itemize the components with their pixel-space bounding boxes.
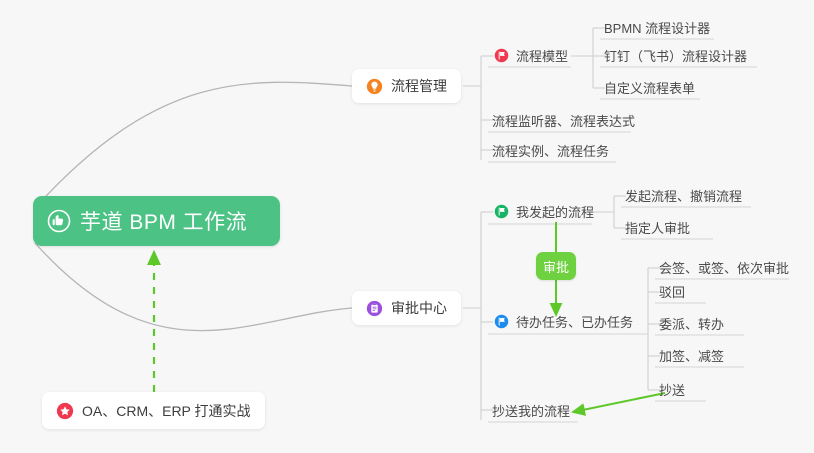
branch-process-management[interactable]: 流程管理 (352, 69, 461, 103)
flag-icon (494, 48, 509, 63)
topic-label: BPMN 流程设计器 (604, 18, 710, 37)
topic-add-remove-sign[interactable]: 加签、减签 (655, 343, 730, 370)
root-node[interactable]: 芋道 BPM 工作流 (33, 196, 280, 246)
branch-label: 审批中心 (391, 298, 447, 318)
star-icon (56, 402, 74, 420)
topic-my-submitted-flow[interactable]: 我发起的流程 (490, 199, 600, 226)
topic-label: 会签、或签、依次审批 (659, 258, 789, 277)
topic-label: 加签、减签 (659, 346, 724, 365)
topic-carbon-copy[interactable]: 抄送 (655, 377, 691, 404)
topic-todo-done-tasks[interactable]: 待办任务、已办任务 (490, 309, 639, 336)
topic-dingtalk-designer[interactable]: 钉钉（飞书）流程设计器 (600, 43, 753, 70)
topic-label: 自定义流程表单 (604, 78, 695, 97)
topic-launch-cancel-flow[interactable]: 发起流程、撤销流程 (621, 183, 748, 210)
edge-root-to-process-management (35, 82, 352, 208)
topic-label: 委派、转办 (659, 314, 724, 333)
annotation-label: 审批 (543, 257, 569, 276)
root-label: 芋道 BPM 工作流 (80, 206, 247, 236)
topic-countersign[interactable]: 会签、或签、依次审批 (655, 255, 795, 282)
topic-label: 待办任务、已办任务 (516, 312, 633, 331)
annotation-approve-pill: 审批 (536, 252, 576, 280)
topic-assignee-approval[interactable]: 指定人审批 (621, 215, 696, 242)
mindmap-canvas: 芋道 BPM 工作流 流程管理 流程模型 BPMN 流程设计器 钉钉（飞书）流程 (0, 0, 814, 453)
topic-reject[interactable]: 驳回 (655, 279, 691, 306)
topic-label: 我发起的流程 (516, 202, 594, 221)
topic-label: 抄送我的流程 (492, 401, 570, 420)
floating-node-label: OA、CRM、ERP 打通实战 (82, 401, 251, 421)
topic-listener-expression[interactable]: 流程监听器、流程表达式 (488, 108, 641, 135)
topic-label: 流程监听器、流程表达式 (492, 111, 635, 130)
clipboard-icon (366, 300, 383, 317)
topic-custom-form[interactable]: 自定义流程表单 (600, 75, 701, 102)
floating-node-integration[interactable]: OA、CRM、ERP 打通实战 (42, 392, 265, 429)
thumbs-up-icon (47, 209, 71, 233)
branch-label: 流程管理 (391, 76, 447, 96)
branch-approval-center[interactable]: 审批中心 (352, 291, 461, 325)
topic-instance-task[interactable]: 流程实例、流程任务 (488, 138, 615, 165)
topic-process-model[interactable]: 流程模型 (490, 43, 574, 70)
topic-label: 发起流程、撤销流程 (625, 186, 742, 205)
arrow-cc-to-ccflow (573, 393, 665, 412)
lightbulb-icon (366, 78, 383, 95)
topic-bpmn-designer[interactable]: BPMN 流程设计器 (600, 15, 716, 42)
topic-label: 指定人审批 (625, 218, 690, 237)
topic-delegate-transfer[interactable]: 委派、转办 (655, 311, 730, 338)
topic-label: 流程模型 (516, 46, 568, 65)
topic-label: 抄送 (659, 380, 685, 399)
flag-icon (494, 204, 509, 219)
edge-root-to-approval-center (35, 243, 352, 331)
topic-label: 流程实例、流程任务 (492, 141, 609, 160)
topic-label: 钉钉（飞书）流程设计器 (604, 46, 747, 65)
topic-cc-my-flow[interactable]: 抄送我的流程 (488, 398, 576, 425)
flag-icon (494, 314, 509, 329)
topic-label: 驳回 (659, 282, 685, 301)
